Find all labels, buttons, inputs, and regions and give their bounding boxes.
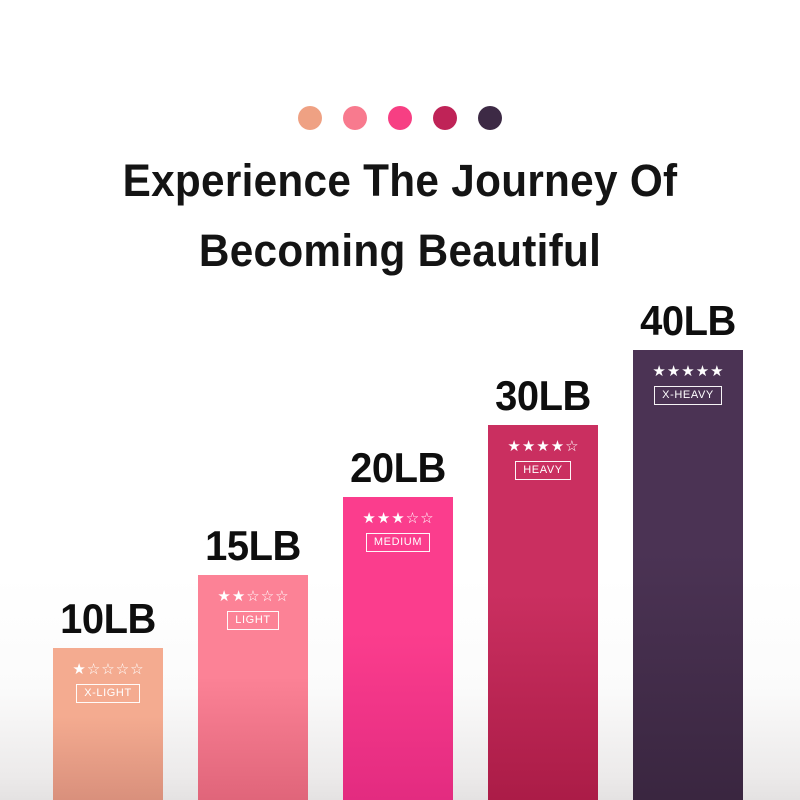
star-rating: ★☆☆☆☆ xyxy=(72,662,143,677)
resistance-level-label: X-HEAVY xyxy=(654,386,722,405)
star-rating: ★★☆☆☆ xyxy=(217,589,288,604)
bar-rect[interactable]: ★★★★★X-HEAVY xyxy=(633,350,743,800)
star-empty-icon: ☆ xyxy=(116,662,129,677)
bar-badge: ★★★★☆HEAVY xyxy=(488,439,598,480)
bar-weight-label: 15LB xyxy=(187,523,318,569)
bar-weight-label: 20LB xyxy=(332,445,463,491)
star-empty-icon: ☆ xyxy=(406,511,419,526)
bar-rect[interactable]: ★☆☆☆☆X-LIGHT xyxy=(53,648,163,800)
bar-group-x-heavy: 40LB★★★★★X-HEAVY xyxy=(633,350,743,800)
star-rating: ★★★★★ xyxy=(652,364,723,379)
star-empty-icon: ☆ xyxy=(565,439,578,454)
bar-badge: ★☆☆☆☆X-LIGHT xyxy=(53,662,163,703)
resistance-level-bar-chart: 10LB★☆☆☆☆X-LIGHT15LB★★☆☆☆LIGHT20LB★★★☆☆M… xyxy=(0,0,800,800)
star-filled-icon: ★ xyxy=(232,589,245,604)
bar-badge: ★★☆☆☆LIGHT xyxy=(198,589,308,630)
star-empty-icon: ☆ xyxy=(261,589,274,604)
bar-group-x-light: 10LB★☆☆☆☆X-LIGHT xyxy=(53,648,163,800)
star-filled-icon: ★ xyxy=(362,511,375,526)
star-filled-icon: ★ xyxy=(217,589,230,604)
star-filled-icon: ★ xyxy=(551,439,564,454)
bar-group-light: 15LB★★☆☆☆LIGHT xyxy=(198,575,308,800)
bar-rect[interactable]: ★★★☆☆MEDIUM xyxy=(343,497,453,800)
star-empty-icon: ☆ xyxy=(420,511,433,526)
resistance-level-label: X-LIGHT xyxy=(76,684,140,703)
star-filled-icon: ★ xyxy=(377,511,390,526)
bar-badge: ★★★★★X-HEAVY xyxy=(633,364,743,405)
star-empty-icon: ☆ xyxy=(101,662,114,677)
star-filled-icon: ★ xyxy=(667,364,680,379)
bar-group-heavy: 30LB★★★★☆HEAVY xyxy=(488,425,598,800)
star-filled-icon: ★ xyxy=(652,364,665,379)
star-filled-icon: ★ xyxy=(72,662,85,677)
bar-weight-label: 10LB xyxy=(42,596,173,642)
star-filled-icon: ★ xyxy=(507,439,520,454)
bar-rect[interactable]: ★★★★☆HEAVY xyxy=(488,425,598,800)
star-filled-icon: ★ xyxy=(536,439,549,454)
resistance-level-label: LIGHT xyxy=(227,611,278,630)
star-empty-icon: ☆ xyxy=(246,589,259,604)
poster-canvas: Experience The Journey Of Becoming Beaut… xyxy=(0,0,800,800)
star-filled-icon: ★ xyxy=(681,364,694,379)
star-empty-icon: ☆ xyxy=(87,662,100,677)
star-filled-icon: ★ xyxy=(696,364,709,379)
bar-rect[interactable]: ★★☆☆☆LIGHT xyxy=(198,575,308,800)
bar-group-medium: 20LB★★★☆☆MEDIUM xyxy=(343,497,453,800)
star-filled-icon: ★ xyxy=(710,364,723,379)
star-empty-icon: ☆ xyxy=(275,589,288,604)
resistance-level-label: MEDIUM xyxy=(366,533,430,552)
resistance-level-label: HEAVY xyxy=(515,461,570,480)
star-rating: ★★★☆☆ xyxy=(362,511,433,526)
star-empty-icon: ☆ xyxy=(130,662,143,677)
star-rating: ★★★★☆ xyxy=(507,439,578,454)
bar-weight-label: 40LB xyxy=(622,298,753,344)
bar-badge: ★★★☆☆MEDIUM xyxy=(343,511,453,552)
star-filled-icon: ★ xyxy=(522,439,535,454)
star-filled-icon: ★ xyxy=(391,511,404,526)
bar-weight-label: 30LB xyxy=(477,373,608,419)
